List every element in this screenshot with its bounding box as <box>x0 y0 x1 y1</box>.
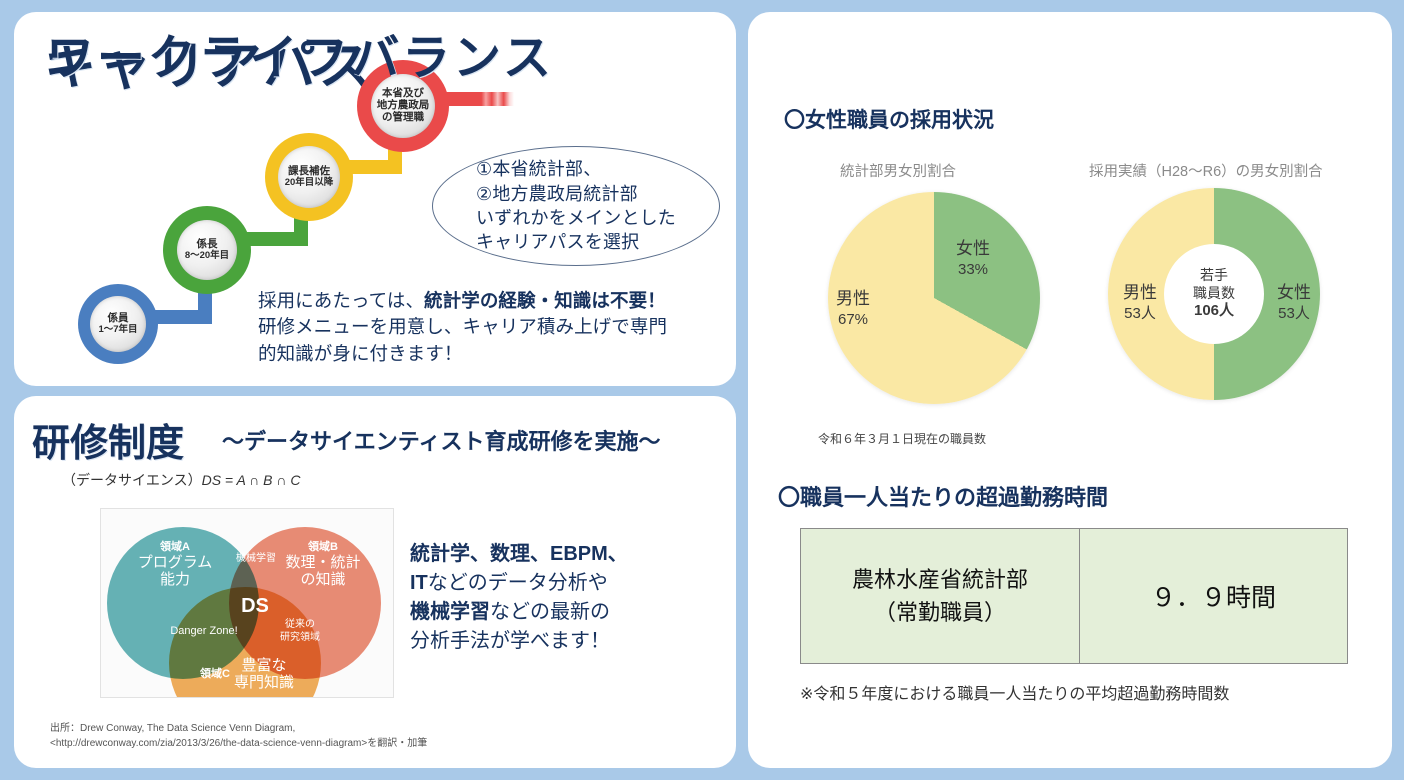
venn-label-a-body: プログラム能力 <box>121 554 229 589</box>
venn-label-ds-center: DS <box>215 595 295 618</box>
career-note-line2: 研修メニューを用意し、キャリア積み上げで専門 <box>258 316 667 337</box>
venn-label-c-head: 領域C <box>200 668 230 681</box>
career-step-staff-core: 係員 1〜7年目 <box>90 296 146 352</box>
pie-label-male-ratio-value: 67% <box>818 310 888 330</box>
overtime-table: 農林水産省統計部 （常勤職員） ９．９時間 <box>800 528 1348 664</box>
training-note-line2: などのデータ分析や <box>428 572 608 594</box>
career-callout-bubble: ①本省統計部、②地方農政局統計部いずれかをメインとしたキャリアパスを選択 <box>432 146 720 266</box>
training-title: 研修制度 <box>32 412 184 467</box>
overtime-label-line2: （常勤職員） <box>874 596 1006 629</box>
section-female-recruitment: 〇女性職員の採用状況 <box>784 104 994 134</box>
career-step-staff-role: 係員 <box>108 313 129 325</box>
donut-label-female-name: 女性 <box>1262 282 1326 304</box>
venn-label-danger-zone: Danger Zone! <box>159 625 249 638</box>
career-note-line3: 的知識が身に付きます！ <box>258 343 463 364</box>
donut-center-line2: 職員数 <box>1193 285 1235 303</box>
venn-label-c-body: 豊富な専門知識 <box>234 657 294 692</box>
career-step-management-line3: の管理職 <box>382 112 424 124</box>
career-step-deputy-director-role: 課長補佐 <box>288 166 330 178</box>
venn-label-b-head: 領域B <box>269 541 377 554</box>
overtime-note: ※令和５年度における職員一人当たりの平均超過勤務時間数 <box>800 680 1229 704</box>
donut-label-male-name: 男性 <box>1108 282 1172 304</box>
connector-red-arrow <box>440 92 514 106</box>
donut-center-line1: 若手 <box>1200 267 1228 285</box>
career-step-chief-years: 8〜20年目 <box>185 251 229 262</box>
section-overtime: 〇職員一人当たりの超過勤務時間 <box>778 480 1108 512</box>
pie-label-female-ratio: 女性 33% <box>938 238 1008 280</box>
donut-label-female-value: 53人 <box>1262 304 1326 324</box>
career-step-deputy-director-core: 課長補佐 20年目以降 <box>278 146 340 208</box>
donut-center-label: 若手 職員数 106人 <box>1164 244 1264 344</box>
training-note-line3: などの最新の <box>490 601 610 623</box>
donut-center-value: 106人 <box>1194 302 1234 321</box>
career-step-staff: 係員 1〜7年目 <box>78 284 158 364</box>
training-formula: （データサイエンス）DS = A ∩ B ∩ C <box>62 470 300 490</box>
career-note-line1: 採用にあたっては、 <box>258 290 424 311</box>
training-note-line1: 統計学、数理、EBPM、 <box>410 543 628 565</box>
pie-label-male-ratio-name: 男性 <box>818 288 888 310</box>
overtime-table-value-cell: ９．９時間 <box>1080 529 1347 663</box>
career-callout-text: ①本省統計部、②地方農政局統計部いずれかをメインとしたキャリアパスを選択 <box>476 157 676 255</box>
pie-label-female-ratio-value: 33% <box>938 260 1008 280</box>
venn-label-c: 領域C豊富な専門知識 <box>177 657 317 692</box>
venn-label-b: 領域B 数理・統計の知識 <box>269 541 377 588</box>
pie-label-female-ratio-name: 女性 <box>938 238 1008 260</box>
training-note-ml: 機械学習 <box>410 601 490 623</box>
venn-label-a-head: 領域A <box>121 541 229 554</box>
career-note: 採用にあたっては、統計学の経験・知識は不要！ 研修メニューを用意し、キャリア積み… <box>258 288 720 367</box>
chart-title-hiring-record: 採用実績（H28〜R6）の男女別割合 <box>1089 160 1323 181</box>
donut-label-male: 男性 53人 <box>1108 282 1172 324</box>
training-formula-math: DS = A ∩ B ∩ C <box>202 472 301 488</box>
career-step-chief-role: 係長 <box>197 239 218 251</box>
venn-label-traditional-research: 従来の研究領域 <box>265 619 335 644</box>
training-note-line4: 分析手法が学べます！ <box>410 630 610 652</box>
career-step-deputy-director: 課長補佐 20年目以降 <box>265 133 353 221</box>
training-note: 統計学、数理、EBPM、 ITなどのデータ分析や 機械学習などの最新の 分析手法… <box>410 540 720 656</box>
overtime-label-line1: 農林水産省統計部 <box>852 563 1028 596</box>
training-formula-jp: （データサイエンス） <box>62 472 202 488</box>
career-step-staff-years: 1〜7年目 <box>98 325 137 336</box>
career-note-emphasis: 統計学の経験・知識は不要！ <box>424 290 666 311</box>
venn-source-citation: 出所：Drew Conway, The Data Science Venn Di… <box>50 722 650 751</box>
venn-diagram: 領域A プログラム能力 領域B 数理・統計の知識 領域C豊富な専門知識 機械学習… <box>100 508 394 698</box>
pie-label-male-ratio: 男性 67% <box>818 288 888 330</box>
career-step-deputy-director-years: 20年目以降 <box>285 178 334 189</box>
career-step-chief: 係長 8〜20年目 <box>163 206 251 294</box>
donut-label-male-value: 53人 <box>1108 304 1172 324</box>
work-life-balance-title: ワークライフバランス <box>46 18 554 88</box>
pie-chart-note: 令和６年３月１日現在の職員数 <box>818 430 986 447</box>
venn-label-a: 領域A プログラム能力 <box>121 541 229 588</box>
venn-label-machine-learning: 機械学習 <box>221 553 291 565</box>
career-step-chief-core: 係長 8〜20年目 <box>177 220 237 280</box>
training-subtitle: 〜データサイエンティスト育成研修を実施〜 <box>222 424 660 456</box>
donut-label-female: 女性 53人 <box>1262 282 1326 324</box>
chart-title-gender-ratio: 統計部男女別割合 <box>840 160 956 181</box>
training-note-it: IT <box>410 572 428 594</box>
overtime-table-label-cell: 農林水産省統計部 （常勤職員） <box>801 529 1080 663</box>
